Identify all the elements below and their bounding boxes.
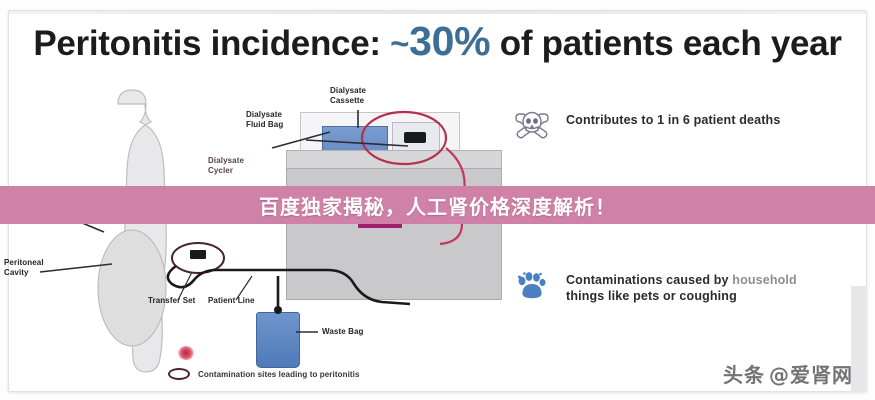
diagram-legend: Contamination sites leading to peritonit… — [168, 368, 360, 380]
label-peritoneal-cavity: Peritoneal Cavity — [4, 258, 44, 278]
frame-top-edge — [9, 11, 866, 14]
contamination-ring-icon — [168, 368, 190, 380]
list-item: Contaminations caused by household thing… — [512, 264, 862, 304]
label-dialysate-cassette: Dialysate Cassette — [330, 86, 366, 106]
contamination-site-abdomen — [178, 346, 194, 360]
label-waste-bag: Waste Bag — [322, 327, 364, 337]
right-edge-sliver — [851, 286, 867, 392]
list-item-text: Contaminations caused by household thing… — [566, 264, 797, 304]
watermark: 头条@爱肾网 — [723, 359, 853, 388]
headline-tilde: ~ — [390, 25, 409, 62]
headline-percent: 30% — [409, 18, 490, 64]
screenshot-stage: Peritonitis incidence: ~30% of patients … — [0, 0, 875, 400]
promo-banner-text: 百度独家揭秘，人工肾价格深度解析！ — [259, 191, 616, 220]
cycler-top-surface — [286, 150, 502, 170]
headline-suffix: of patients each year — [500, 24, 842, 63]
skull-crossbones-icon — [512, 104, 552, 144]
label-dialysate-cycler: Dialysate Cycler — [208, 156, 244, 176]
label-dialysate-fluid-bag: Dialysate Fluid Bag — [246, 110, 283, 130]
paw-print-icon — [512, 264, 552, 304]
label-transfer-set: Transfer Set — [148, 296, 195, 306]
statistics-list: Contributes to 1 in 6 patient deaths % o… — [512, 104, 862, 344]
watermark-platform: 头条 — [723, 363, 765, 387]
label-patient-line: Patient Line — [208, 296, 255, 306]
headline-prefix: Peritonitis incidence: — [33, 24, 380, 63]
legend-label: Contamination sites leading to peritonit… — [198, 370, 360, 379]
page-title: Peritonitis incidence: ~30% of patients … — [0, 18, 875, 65]
watermark-handle: @爱肾网 — [769, 363, 853, 387]
list-item: Contributes to 1 in 6 patient deaths — [512, 104, 862, 144]
cassette-port — [404, 132, 426, 143]
patient-silhouette — [72, 88, 192, 378]
waste-bag-shape — [256, 312, 300, 368]
promo-banner: 百度独家揭秘，人工肾价格深度解析！ — [0, 186, 875, 224]
list-item-text: Contributes to 1 in 6 patient deaths — [566, 104, 780, 128]
